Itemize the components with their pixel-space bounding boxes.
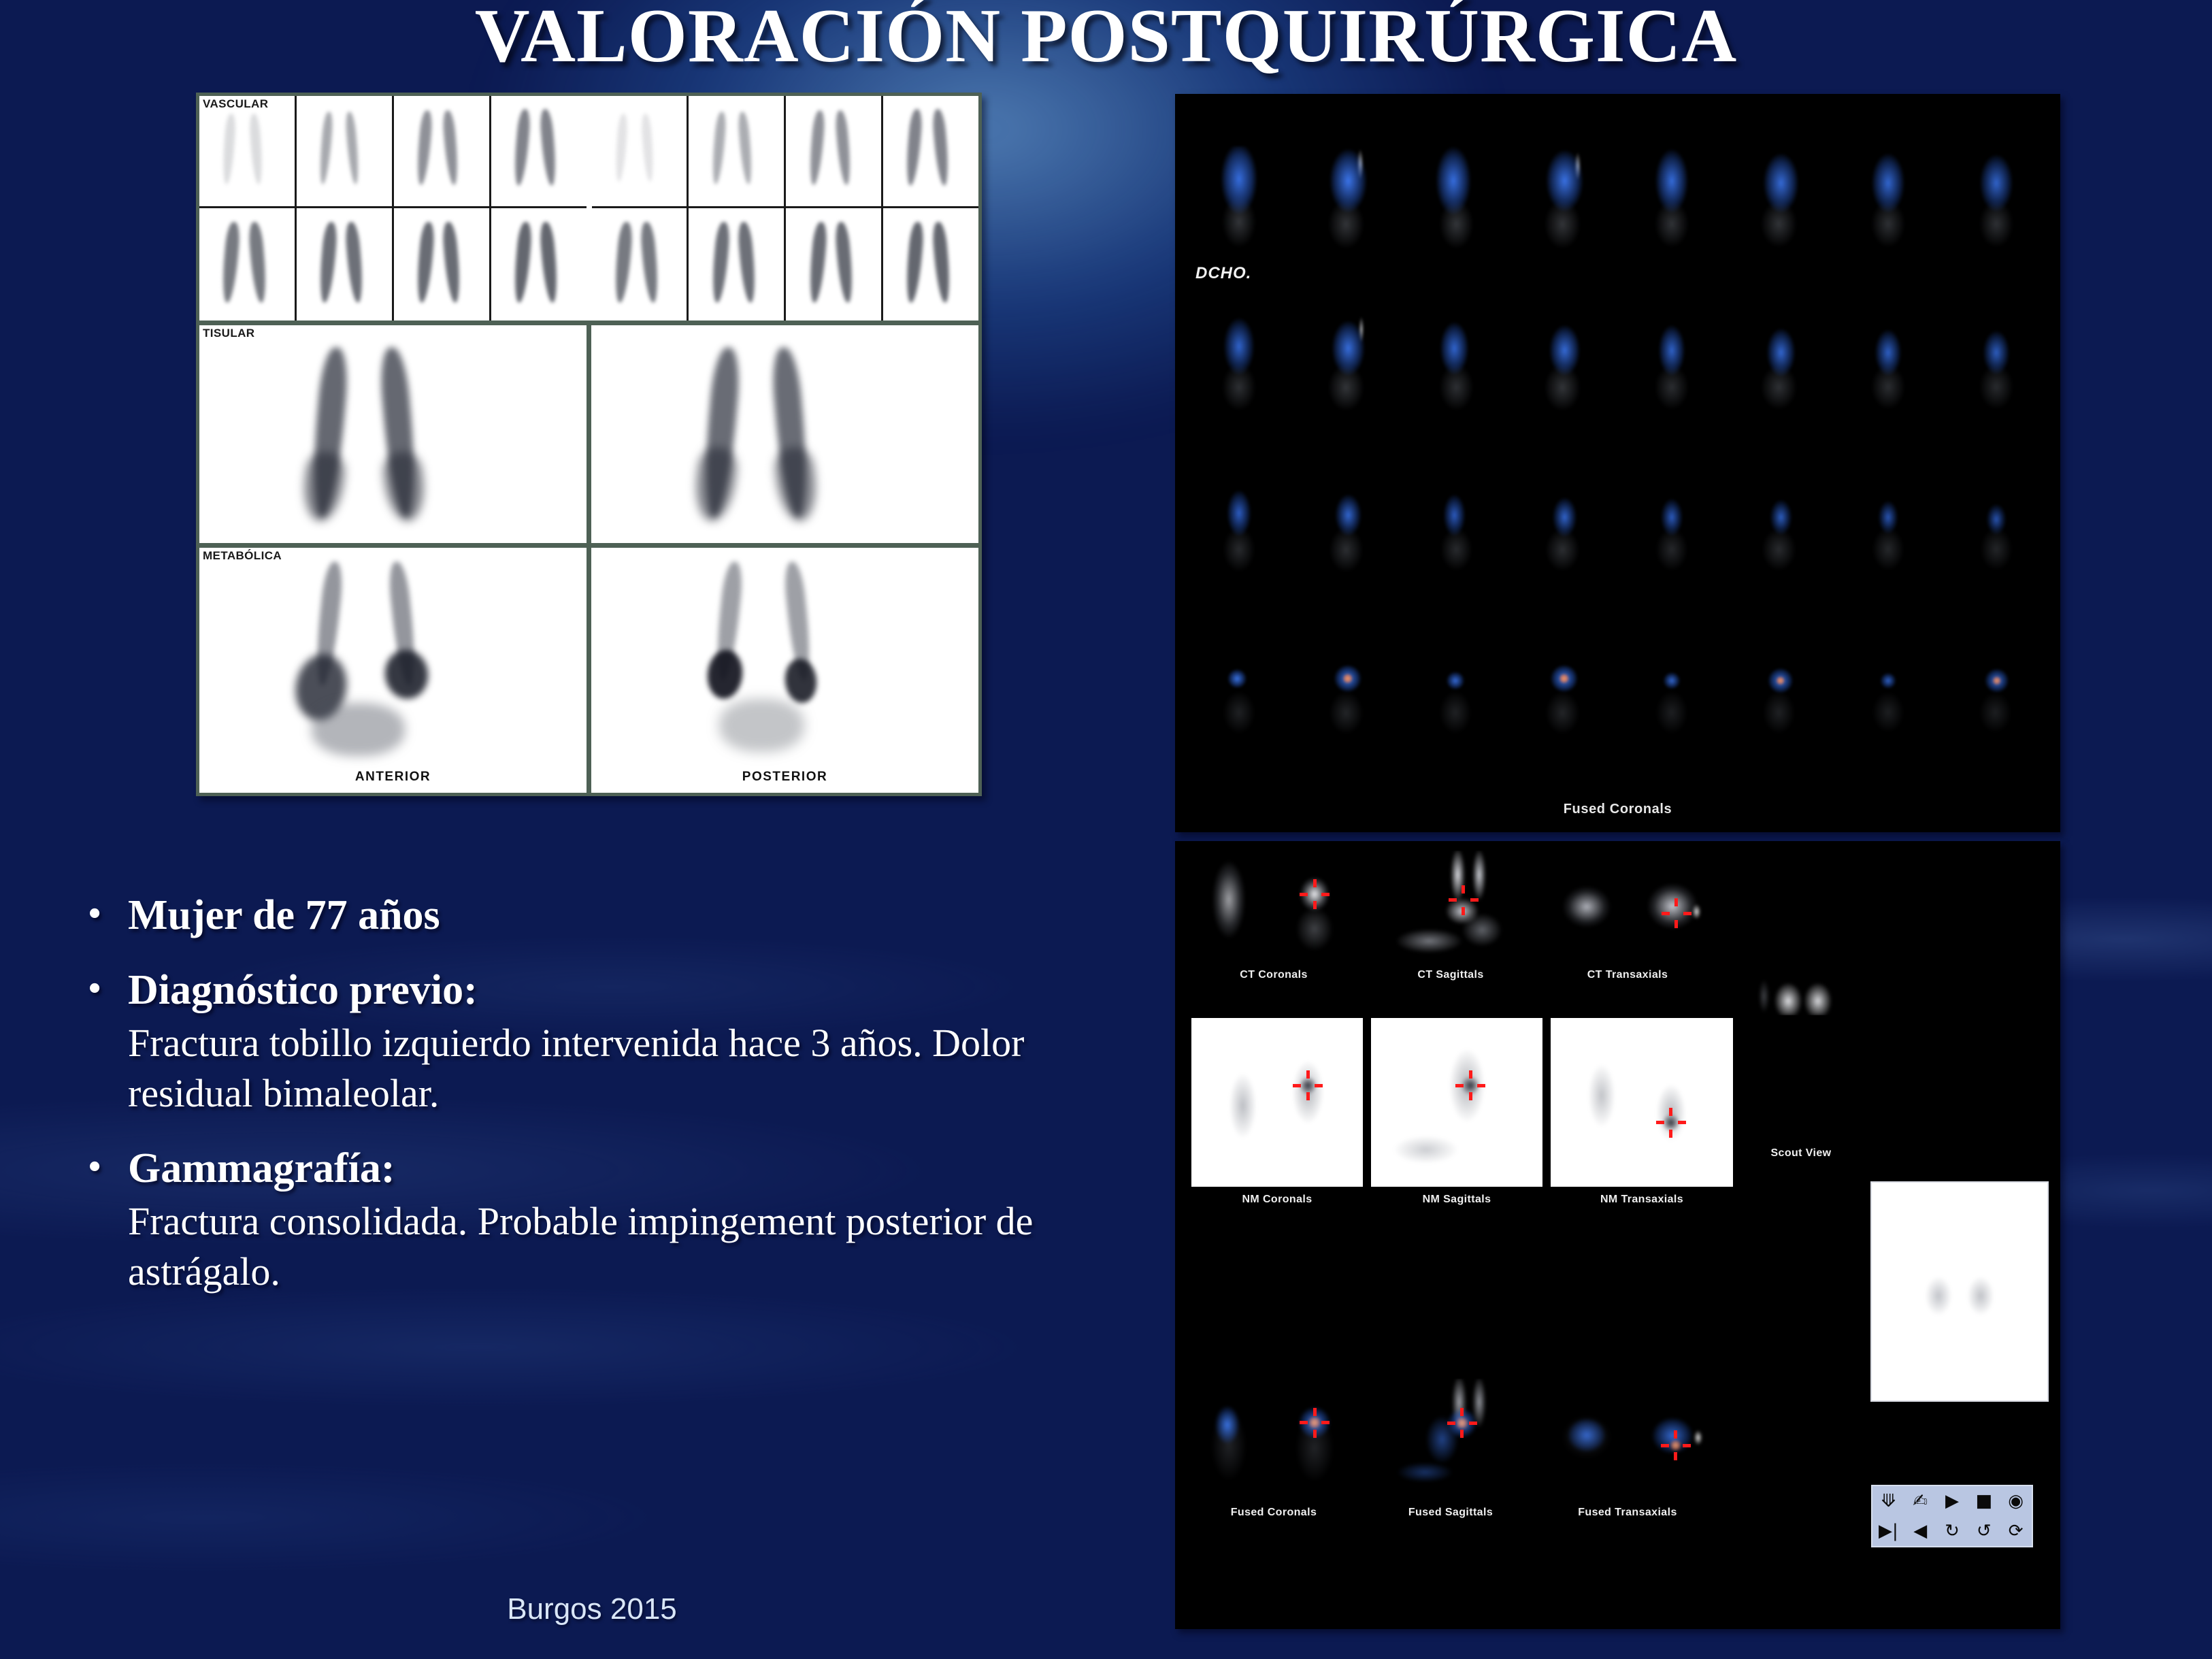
scout-view-image (1734, 968, 1869, 1015)
view-caption-anterior: ANTERIOR (199, 770, 587, 793)
fused-coronals-caption: Fused Coronals (1189, 1507, 1359, 1519)
spect-slice (1836, 280, 1941, 441)
crosshair-marker (1656, 1108, 1686, 1138)
phase-label-vascular: VASCULAR (203, 97, 268, 111)
panel-divider (199, 321, 978, 325)
tissue-anterior-image (199, 325, 587, 543)
crosshair-marker (1447, 1408, 1477, 1438)
nm-coronals-image (1191, 1018, 1363, 1187)
scintigraphy-frame (394, 208, 491, 321)
spect-slice (1944, 117, 2049, 278)
page-title: VALORACIÓN POSTQUIRÚRGICA (0, 0, 2212, 78)
fused-coronals-image (1191, 1379, 1266, 1494)
scintigraphy-frame (883, 96, 978, 208)
scintigraphy-frame (689, 208, 786, 321)
spect-slice (1836, 444, 1941, 604)
scintigraphy-phase-vascular: VASCULAR (199, 96, 978, 321)
spect-slice-hotspot (1511, 606, 1616, 767)
scout-view-caption: Scout View (1726, 1147, 1876, 1160)
panel-divider (587, 325, 591, 543)
scintigraphy-frame (199, 208, 297, 321)
list-item: • Gammagrafía: Fractura consolidada. Pro… (88, 1145, 1123, 1297)
spect-slice (1944, 280, 2049, 441)
bullet-body-previous-diagnosis: Fractura tobillo izquierdo intervenida h… (88, 1018, 1123, 1119)
spect-slice (1294, 280, 1400, 441)
scintigraphy-frame (394, 96, 491, 208)
vascular-anterior-frames (199, 96, 587, 321)
scintigraphy-frame (689, 96, 786, 208)
spect-slice (1619, 606, 1725, 767)
bullet-body-scintigraphy: Fractura consolidada. Probable impingeme… (88, 1196, 1123, 1297)
vascular-posterior-frames (592, 96, 979, 321)
crosshair-marker (1661, 1430, 1691, 1460)
nm-transaxials-image (1551, 1018, 1733, 1187)
spect-fused-coronals-panel: DCHO. (1175, 94, 2060, 832)
spect-slice-hotspot (1944, 606, 2049, 767)
ct-coronals-image (1274, 851, 1355, 959)
bullet-heading-previous-diagnosis: Diagnóstico previo: (128, 966, 478, 1015)
spect-slice (1511, 444, 1616, 604)
spect-slice (1619, 444, 1725, 604)
spin-cw-icon[interactable]: ↻ (1936, 1516, 1968, 1546)
nm-coronals-caption: NM Coronals (1191, 1194, 1363, 1206)
spect-slice (1186, 280, 1291, 441)
fused-transaxials-caption: Fused Transaxials (1542, 1507, 1713, 1519)
spect-slice-grid (1186, 117, 2049, 767)
phase-label-metabolica: METABÓLICA (203, 549, 282, 563)
metabolic-posterior-image (591, 548, 978, 770)
ct-sagittals-caption: CT Sagittals (1379, 969, 1522, 981)
frame-group-gap (587, 96, 592, 321)
ct-coronals-caption: CT Coronals (1189, 969, 1359, 981)
spect-slice (1836, 606, 1941, 767)
spect-slice (1944, 444, 2049, 604)
crosshair-marker (1300, 1408, 1330, 1438)
bullet-marker: • (88, 891, 128, 937)
nm-transaxials-caption: NM Transaxials (1551, 1194, 1733, 1206)
bullet-marker: • (88, 966, 128, 1012)
mip-viewport[interactable] (1870, 1181, 2049, 1402)
fused-transaxials-image (1549, 1390, 1624, 1481)
scintigraphy-phase-tissue: TISULAR (199, 325, 978, 543)
play-icon[interactable]: ▶ (1936, 1486, 1968, 1516)
scintigraphy-frame (491, 208, 587, 321)
ct-sagittals-image (1379, 851, 1522, 961)
tissue-posterior-image (591, 325, 978, 543)
slide-root: VALORACIÓN POSTQUIRÚRGICA VASCULAR (0, 0, 2212, 1659)
spect-slice (1402, 280, 1508, 441)
spect-slice (1402, 444, 1508, 604)
spect-slice (1511, 117, 1616, 278)
spect-slice (1402, 606, 1508, 767)
planar-scintigraphy-panel: VASCULAR (196, 93, 982, 796)
spect-slice (1728, 117, 1833, 278)
fused-coronals-image (1274, 1379, 1355, 1494)
view-caption-posterior: POSTERIOR (591, 770, 978, 793)
spect-slice (1294, 444, 1400, 604)
spect-slice (1728, 280, 1833, 441)
metabolic-anterior-image (199, 548, 587, 770)
ct-transaxials-image (1549, 861, 1624, 949)
spect-caption-fused-coronals: Fused Coronals (1175, 802, 2060, 817)
spect-slice (1186, 117, 1291, 278)
spect-slice-hotspot (1728, 606, 1833, 767)
ct-coronals-image (1191, 851, 1266, 959)
crosshair-marker (1300, 879, 1330, 909)
spin-ccw-icon[interactable]: ↺ (1968, 1516, 2000, 1546)
spect-slice (1402, 117, 1508, 278)
metabolic-anterior-view: ANTERIOR (199, 548, 587, 793)
target-icon[interactable]: ◉ (2000, 1486, 2032, 1516)
spect-slice (1511, 280, 1616, 441)
spect-slice (1619, 117, 1725, 278)
crosshair-marker (1449, 885, 1479, 915)
scintigraphy-frame (592, 96, 689, 208)
rotate-left-icon[interactable]: ⟱ (1872, 1486, 1904, 1516)
panel-divider (199, 543, 978, 548)
ct-transaxials-caption: CT Transaxials (1542, 969, 1713, 981)
crosshair-marker (1662, 898, 1691, 928)
stop-icon[interactable]: ■ (1968, 1486, 2000, 1516)
clinical-summary-list: • Mujer de 77 años • Diagnóstico previo:… (88, 891, 1123, 1324)
panel-divider (587, 548, 591, 793)
scintigraphy-frame (883, 208, 978, 321)
fused-transaxials-image (1632, 1385, 1713, 1482)
scintigraphy-frame (297, 208, 394, 321)
metabolic-posterior-view: POSTERIOR (591, 548, 978, 793)
mip-navigate-toolbar[interactable]: ⟱ ✍ ▶ ■ ◉ ▶| ◀ ↻ ↺ ⟳ (1871, 1485, 2033, 1547)
scintigraphy-frame (491, 96, 587, 208)
spect-slice (1619, 280, 1725, 441)
play-to-end-icon[interactable]: ▶| (1872, 1516, 1904, 1546)
scintigraphy-frame (786, 96, 883, 208)
scintigraphy-frame (297, 96, 394, 208)
scintigraphy-frame (199, 96, 297, 208)
side-label-dcho: DCHO. (1195, 264, 1251, 283)
ct-transaxials-image (1632, 859, 1713, 950)
spect-slice (1186, 444, 1291, 604)
spect-slice (1294, 117, 1400, 278)
slide-footer: Burgos 2015 (0, 1592, 1184, 1626)
list-item: • Diagnóstico previo: Fractura tobillo i… (88, 966, 1123, 1119)
scintigraphy-frame (592, 208, 689, 321)
hand-icon[interactable]: ✍ (1904, 1486, 1936, 1516)
crosshair-marker (1455, 1070, 1485, 1100)
rewind-icon[interactable]: ◀ (1904, 1516, 1936, 1546)
spect-slice (1186, 606, 1291, 767)
nm-sagittals-image (1371, 1018, 1542, 1187)
spect-slice (1728, 444, 1833, 604)
spect-slice (1836, 117, 1941, 278)
fused-sagittals-image (1379, 1379, 1522, 1496)
reset-view-icon[interactable]: ⟳ (2000, 1516, 2032, 1546)
scintigraphy-frame (786, 208, 883, 321)
bullet-heading-scintigraphy: Gammagrafía: (128, 1145, 395, 1194)
fused-sagittals-caption: Fused Sagittals (1379, 1507, 1522, 1519)
scintigraphy-phase-metabolic: METABÓLICA ANTERIOR (199, 548, 978, 793)
bullet-marker: • (88, 1145, 128, 1190)
leg-uptake-shape (199, 96, 295, 206)
nm-sagittals-caption: NM Sagittals (1371, 1194, 1542, 1206)
list-item: • Mujer de 77 años (88, 891, 1123, 940)
bullet-heading-patient: Mujer de 77 años (128, 891, 440, 940)
phase-label-tisular: TISULAR (203, 327, 254, 340)
spect-slice-hotspot (1294, 606, 1400, 767)
crosshair-marker (1293, 1070, 1323, 1100)
